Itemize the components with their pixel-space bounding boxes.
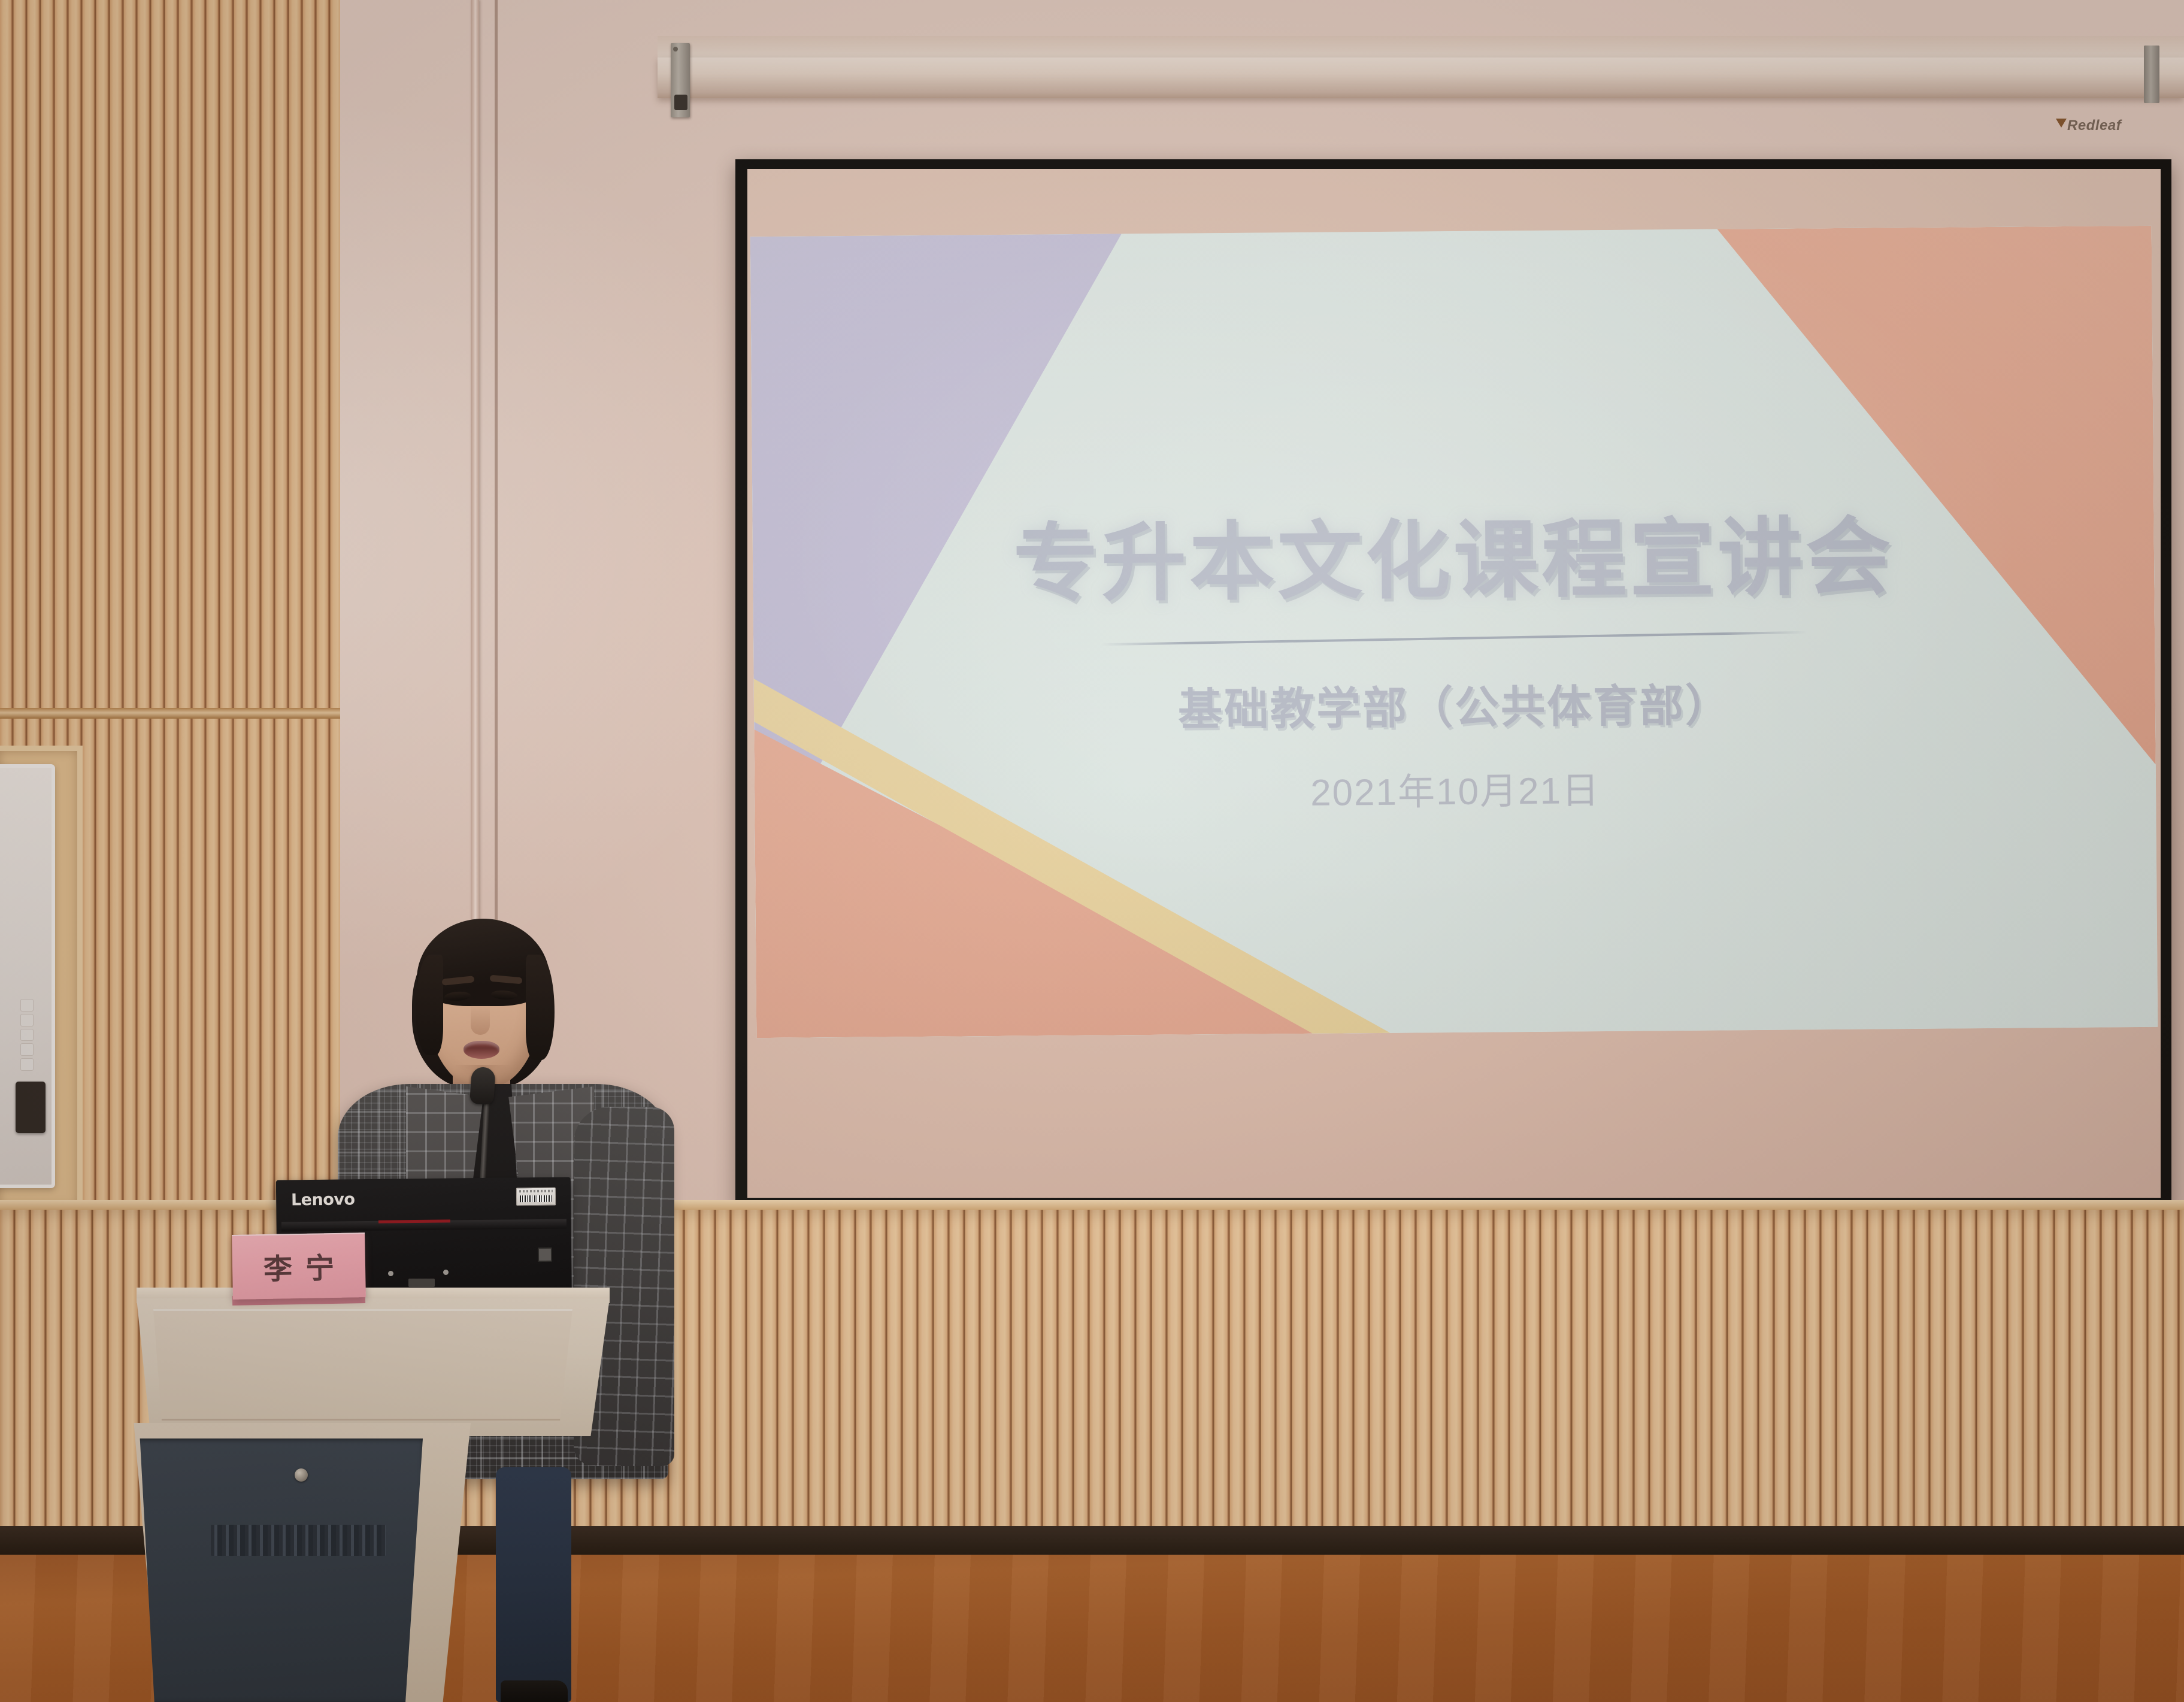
presenter-legs	[496, 1467, 571, 1702]
podium-front-face	[153, 1309, 572, 1421]
microphone-head-icon[interactable]	[469, 1067, 496, 1106]
slide-divider-rule	[1101, 631, 1807, 646]
screen-mount-bracket-left	[671, 43, 690, 117]
wall-panel-buttons[interactable]	[20, 999, 36, 1071]
screen-housing-upper	[658, 36, 2184, 60]
podium-lock-icon[interactable]	[295, 1468, 308, 1482]
presenter-shoe	[501, 1680, 568, 1702]
lenovo-brand-label: Lenovo	[291, 1190, 355, 1209]
laptop-asset-tag	[516, 1188, 556, 1206]
redleaf-brand-label: Redleaf	[2067, 117, 2121, 134]
panel-button[interactable]	[20, 1029, 34, 1041]
panel-button[interactable]	[20, 999, 34, 1011]
slide-text-block: 专升本文化课程宣讲会 基础教学部（公共体育部） 2021年10月21日	[753, 513, 2156, 820]
barcode-icon	[520, 1195, 552, 1203]
slide-title: 专升本文化课程宣讲会	[753, 513, 2155, 609]
podium-vent-slots	[211, 1525, 386, 1556]
name-plate-text: 李宁	[250, 1244, 347, 1288]
screen-mount-bracket-right	[2144, 46, 2159, 103]
slide-subtitle: 基础教学部（公共体育部）	[754, 667, 2156, 741]
panel-button[interactable]	[20, 1058, 34, 1071]
lecture-hall-photo: Redleaf 专升本文化课程宣讲会 基础教学部（公共体育部） 2021年10月…	[0, 0, 2184, 1702]
projected-slide: 专升本文化课程宣讲会 基础教学部（公共体育部） 2021年10月21日	[750, 226, 2158, 1038]
laptop-screw-left	[388, 1271, 393, 1276]
presenter-nose	[471, 1004, 490, 1035]
podium-equipment-panel[interactable]	[134, 1438, 423, 1702]
name-plate: 李宁	[232, 1232, 366, 1300]
redleaf-triangle-icon	[2056, 119, 2067, 128]
wood-trim-band	[0, 708, 340, 719]
presenter-hair-side-left	[416, 955, 443, 1055]
screen-housing	[658, 57, 2184, 98]
laptop-port	[538, 1247, 552, 1262]
slide-date: 2021年10月21日	[755, 756, 2156, 820]
panel-button[interactable]	[20, 1014, 34, 1026]
presenter-hair-side-right	[526, 955, 555, 1060]
wall-panel-dark-module	[16, 1082, 46, 1133]
panel-button[interactable]	[20, 1043, 34, 1056]
laptop-base-notch	[408, 1279, 435, 1287]
asset-tag-text-line	[519, 1190, 553, 1193]
presenter-mouth	[464, 1041, 499, 1059]
laptop-screw-right	[443, 1270, 449, 1275]
